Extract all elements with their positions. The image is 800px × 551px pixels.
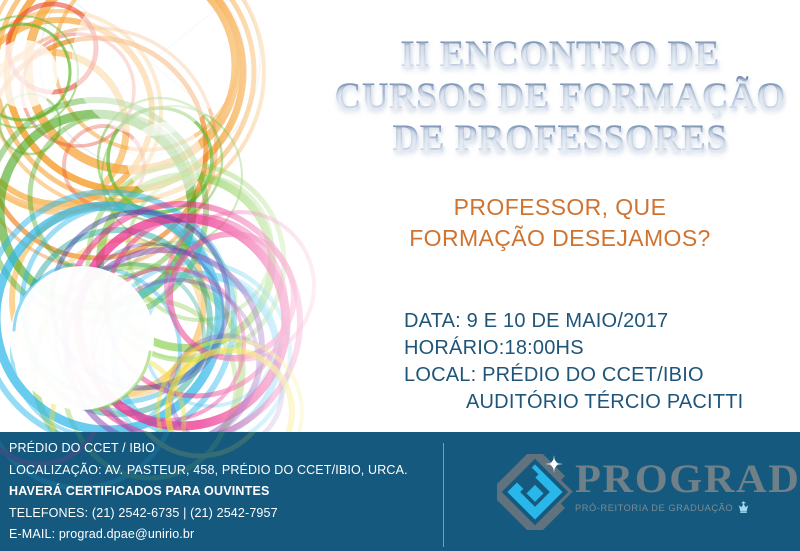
- prograd-tagline-row: PRÓ-REITORIA DE GRADUAÇÃO: [575, 501, 775, 514]
- prograd-wordmark: PROGRAD: [575, 458, 787, 500]
- footer-line-building: PRÉDIO DO CCET / IBIO: [9, 438, 429, 460]
- footer-line-email: E-MAIL: prograd.dpae@unirio.br: [9, 524, 429, 546]
- poster-canvas: II ENCONTRO DE CURSOS DE FORMAÇÃO DE PRO…: [0, 0, 800, 551]
- detail-location: LOCAL: PRÉDIO DO CCET/IBIO: [404, 362, 796, 389]
- page-title: II ENCONTRO DE CURSOS DE FORMAÇÃO DE PRO…: [330, 34, 790, 160]
- title-line-1: II ENCONTRO DE: [330, 34, 790, 76]
- subtitle-line-2: FORMAÇÃO DESEJAMOS?: [330, 223, 790, 254]
- prograd-logo: PROGRAD PRÓ-REITORIA DE GRADUAÇÃO: [497, 452, 777, 532]
- title-line-3: DE PROFESSORES: [330, 118, 790, 160]
- detail-auditorium: AUDITÓRIO TÉRCIO PACITTI: [404, 389, 796, 416]
- detail-date: DATA: 9 E 10 DE MAIO/2017: [404, 308, 796, 335]
- footer-line-certificates: HAVERÁ CERTIFICADOS PARA OUVINTES: [9, 481, 429, 503]
- page-subtitle: PROFESSOR, QUE FORMAÇÃO DESEJAMOS?: [330, 192, 790, 254]
- prograd-emblem-icon: [497, 454, 573, 530]
- artwork-fade: [200, 0, 340, 438]
- footer-contact-block: PRÉDIO DO CCET / IBIO LOCALIZAÇÃO: AV. P…: [9, 438, 429, 546]
- footer-vertical-divider: [443, 443, 444, 547]
- unirio-crown-icon: [737, 501, 750, 514]
- detail-time: HORÁRIO:18:00HS: [404, 335, 796, 362]
- footer-line-address: LOCALIZAÇÃO: AV. PASTEUR, 458, PRÉDIO DO…: [9, 460, 429, 482]
- prograd-wordmark-group: PROGRAD PRÓ-REITORIA DE GRADUAÇÃO: [575, 458, 775, 514]
- prograd-tagline: PRÓ-REITORIA DE GRADUAÇÃO: [575, 503, 733, 513]
- subtitle-line-1: PROFESSOR, QUE: [330, 192, 790, 223]
- title-line-2: CURSOS DE FORMAÇÃO: [330, 76, 790, 118]
- footer-line-phones: TELEFONES: (21) 2542-6735 | (21) 2542-79…: [9, 503, 429, 525]
- artwork-svg: [0, 0, 340, 438]
- abstract-circles-artwork: [0, 0, 340, 438]
- event-details: DATA: 9 E 10 DE MAIO/2017 HORÁRIO:18:00H…: [404, 308, 796, 416]
